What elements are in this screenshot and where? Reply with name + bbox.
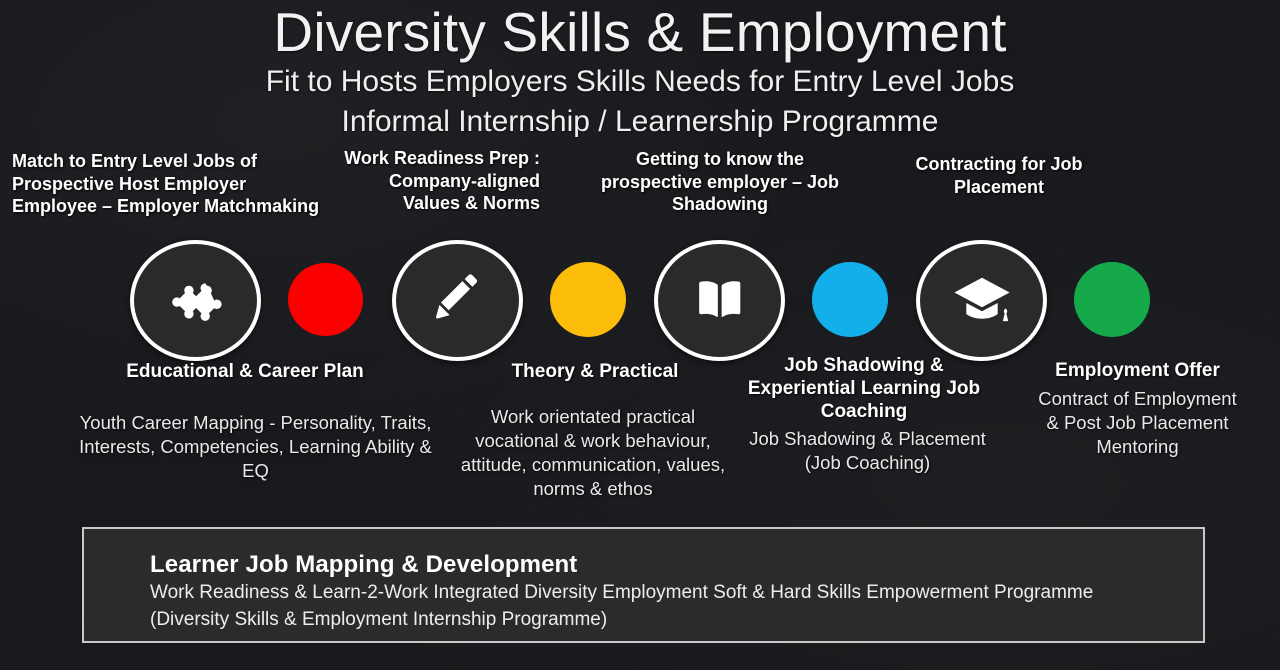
stage-1-top-caption: Match to Entry Level Jobs of Prospective… bbox=[12, 150, 332, 218]
footer-title: Learner Job Mapping & Development bbox=[150, 551, 1203, 579]
stage-4-top-caption: Contracting for Job Placement bbox=[888, 153, 1110, 198]
connector-dot-red bbox=[288, 263, 363, 336]
stage-3-icon-circle[interactable] bbox=[654, 240, 785, 361]
stage-1-icon-circle[interactable] bbox=[130, 240, 261, 361]
stage-3-head-label: Job Shadowing & Experiential Learning Jo… bbox=[728, 354, 1000, 423]
pencil-icon bbox=[428, 271, 488, 331]
slide-header: Diversity Skills & Employment Fit to Hos… bbox=[0, 0, 1280, 142]
slide-canvas: Diversity Skills & Employment Fit to Hos… bbox=[0, 0, 1280, 670]
stage-2-top-caption: Work Readiness Prep : Company-aligned Va… bbox=[340, 147, 540, 215]
open-book-icon bbox=[691, 272, 749, 330]
stage-1-head-label: Educational & Career Plan bbox=[70, 360, 420, 383]
stage-2-head-label: Theory & Practical bbox=[450, 360, 740, 383]
stage-4-body-label: Contract of Employment & Post Job Placem… bbox=[1030, 387, 1245, 459]
stage-2-body-label: Work orientated practical vocational & w… bbox=[448, 405, 738, 501]
stage-3-top-caption: Getting to know the prospective employer… bbox=[600, 148, 840, 216]
connector-dot-green bbox=[1074, 262, 1150, 337]
page-title: Diversity Skills & Employment bbox=[0, 0, 1280, 62]
graduation-cap-icon bbox=[951, 270, 1013, 332]
stage-4-icon-circle[interactable] bbox=[916, 240, 1047, 361]
connector-dot-amber bbox=[550, 262, 626, 337]
puzzle-piece-icon bbox=[165, 270, 227, 332]
footer-body: Work Readiness & Learn-2-Work Integrated… bbox=[150, 579, 1150, 633]
stage-1-body-label: Youth Career Mapping - Personality, Trai… bbox=[68, 411, 443, 483]
stage-4-head-label: Employment Offer bbox=[1020, 359, 1255, 382]
stage-2-icon-circle[interactable] bbox=[392, 240, 523, 361]
stage-3-body-label: Job Shadowing & Placement (Job Coaching) bbox=[730, 427, 1005, 475]
subtitle-line-2: Informal Internship / Learnership Progra… bbox=[0, 102, 1280, 142]
footer-summary-box: Learner Job Mapping & Development Work R… bbox=[82, 527, 1205, 643]
connector-dot-blue bbox=[812, 262, 888, 337]
subtitle-line-1: Fit to Hosts Employers Skills Needs for … bbox=[0, 62, 1280, 102]
